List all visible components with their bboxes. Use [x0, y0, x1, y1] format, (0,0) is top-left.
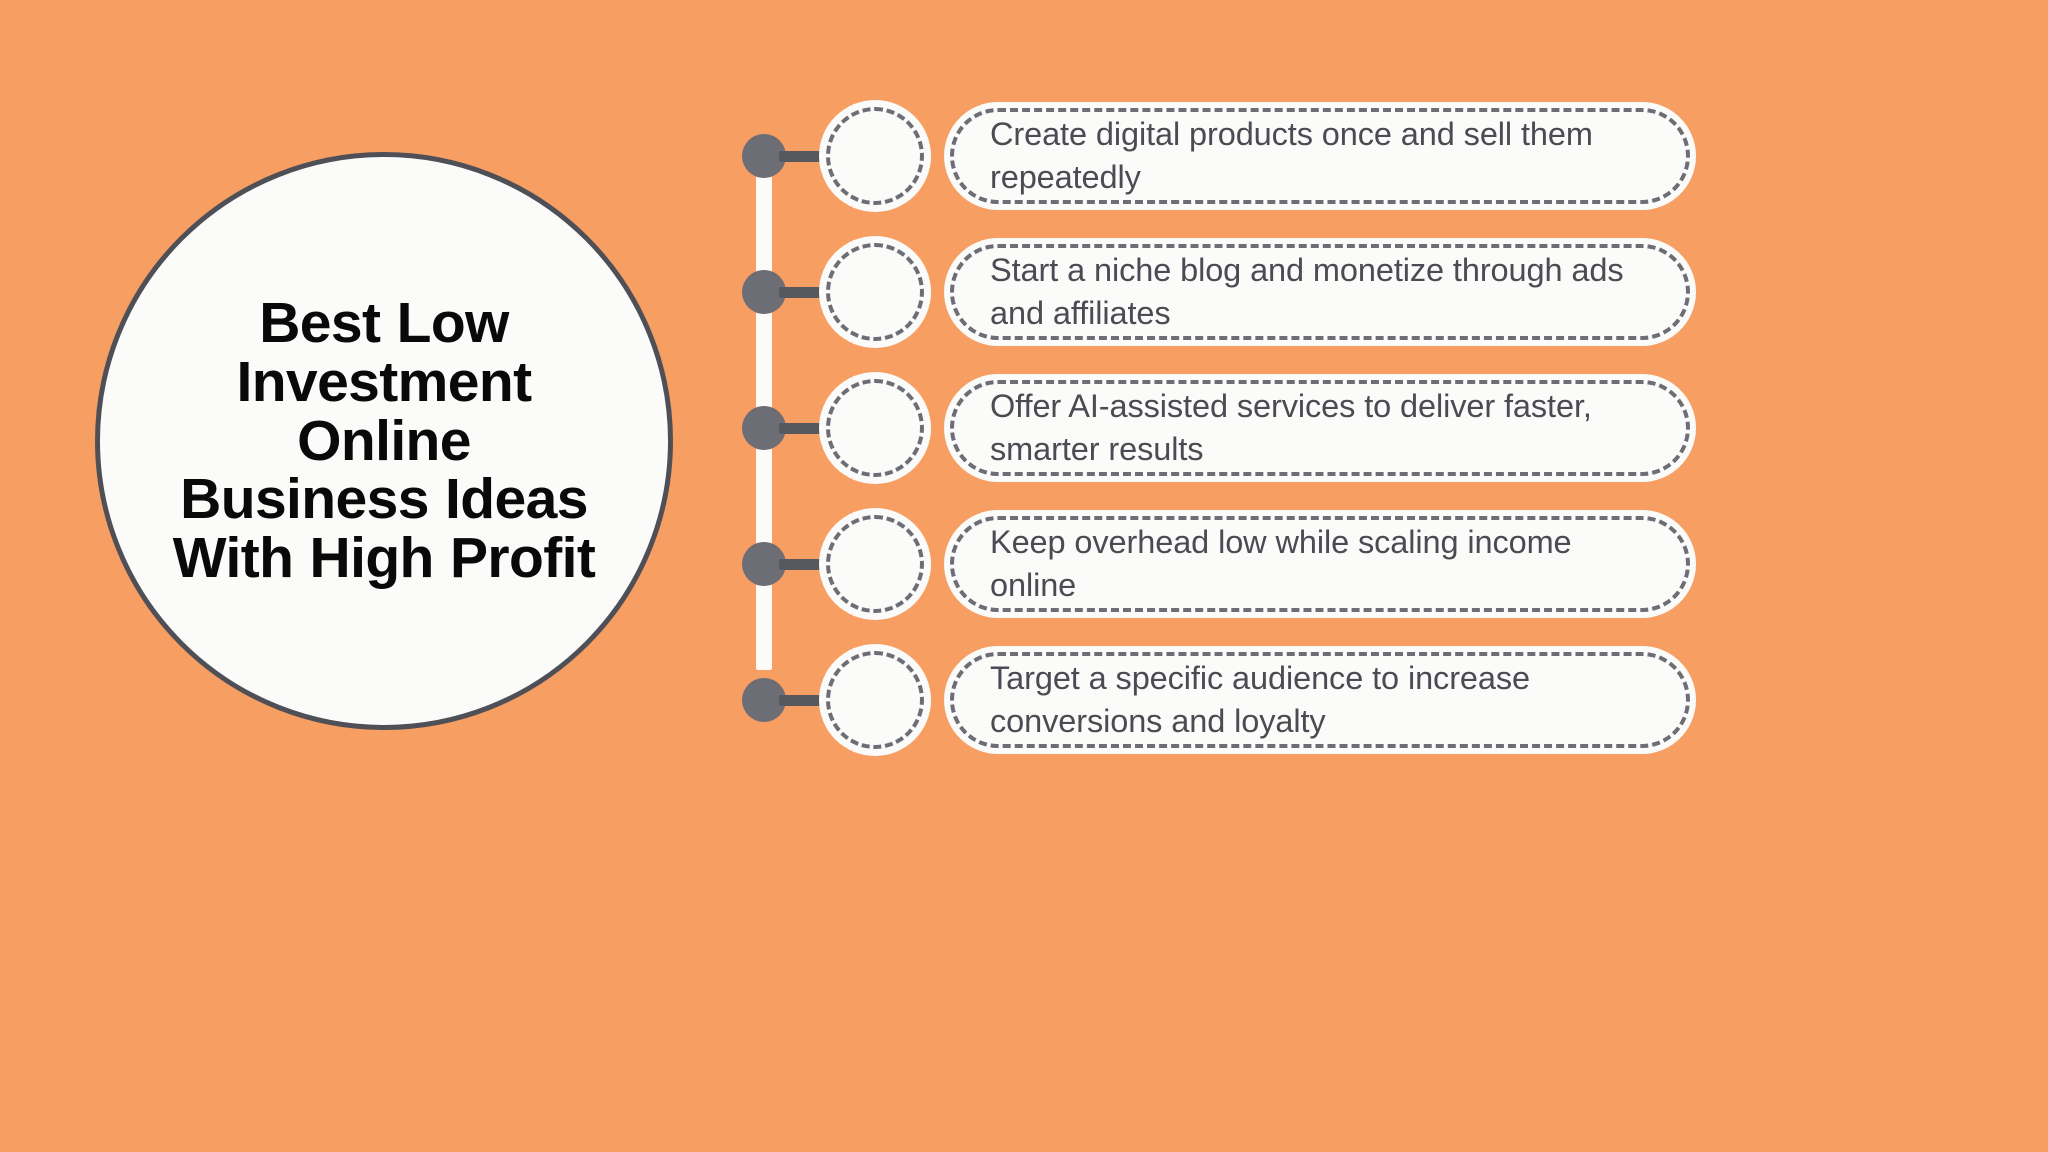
step-text: Offer AI-assisted services to deliver fa…: [990, 385, 1656, 471]
step-card[interactable]: Start a niche blog and monetize through …: [944, 238, 1696, 346]
timeline: Create digital products once and sell th…: [735, 100, 2025, 780]
step-badge-circle: [819, 508, 931, 620]
step-text: Start a niche blog and monetize through …: [990, 249, 1656, 335]
page-title: Best Low Investment Online Business Idea…: [149, 294, 619, 588]
step-badge-circle: [819, 644, 931, 756]
title-line-2: Investment: [149, 353, 619, 412]
title-line-1: Best Low: [149, 294, 619, 353]
step-card[interactable]: Offer AI-assisted services to deliver fa…: [944, 374, 1696, 482]
step-text: Target a specific audience to increase c…: [990, 657, 1656, 743]
title-line-4: Business Ideas: [149, 470, 619, 529]
step-card-inner: Target a specific audience to increase c…: [950, 652, 1690, 748]
step-card[interactable]: Keep overhead low while scaling income o…: [944, 510, 1696, 618]
step-card[interactable]: Target a specific audience to increase c…: [944, 646, 1696, 754]
infographic-canvas: Best Low Investment Online Business Idea…: [0, 0, 2048, 1152]
title-line-5: With High Profit: [149, 529, 619, 588]
step-badge-circle: [819, 372, 931, 484]
step-badge-circle: [819, 100, 931, 212]
step-badge-circle: [819, 236, 931, 348]
list-item[interactable]: Start a niche blog and monetize through …: [735, 236, 2025, 348]
step-card-inner: Offer AI-assisted services to deliver fa…: [950, 380, 1690, 476]
list-item[interactable]: Keep overhead low while scaling income o…: [735, 508, 2025, 620]
title-line-3: Online: [149, 412, 619, 471]
hero-title-circle: Best Low Investment Online Business Idea…: [95, 152, 673, 730]
step-card-inner: Start a niche blog and monetize through …: [950, 244, 1690, 340]
step-text: Create digital products once and sell th…: [990, 113, 1656, 199]
step-card-inner: Keep overhead low while scaling income o…: [950, 516, 1690, 612]
step-text: Keep overhead low while scaling income o…: [990, 521, 1656, 607]
step-card-inner: Create digital products once and sell th…: [950, 108, 1690, 204]
list-item[interactable]: Create digital products once and sell th…: [735, 100, 2025, 212]
list-item[interactable]: Target a specific audience to increase c…: [735, 644, 2025, 756]
step-card[interactable]: Create digital products once and sell th…: [944, 102, 1696, 210]
list-item[interactable]: Offer AI-assisted services to deliver fa…: [735, 372, 2025, 484]
